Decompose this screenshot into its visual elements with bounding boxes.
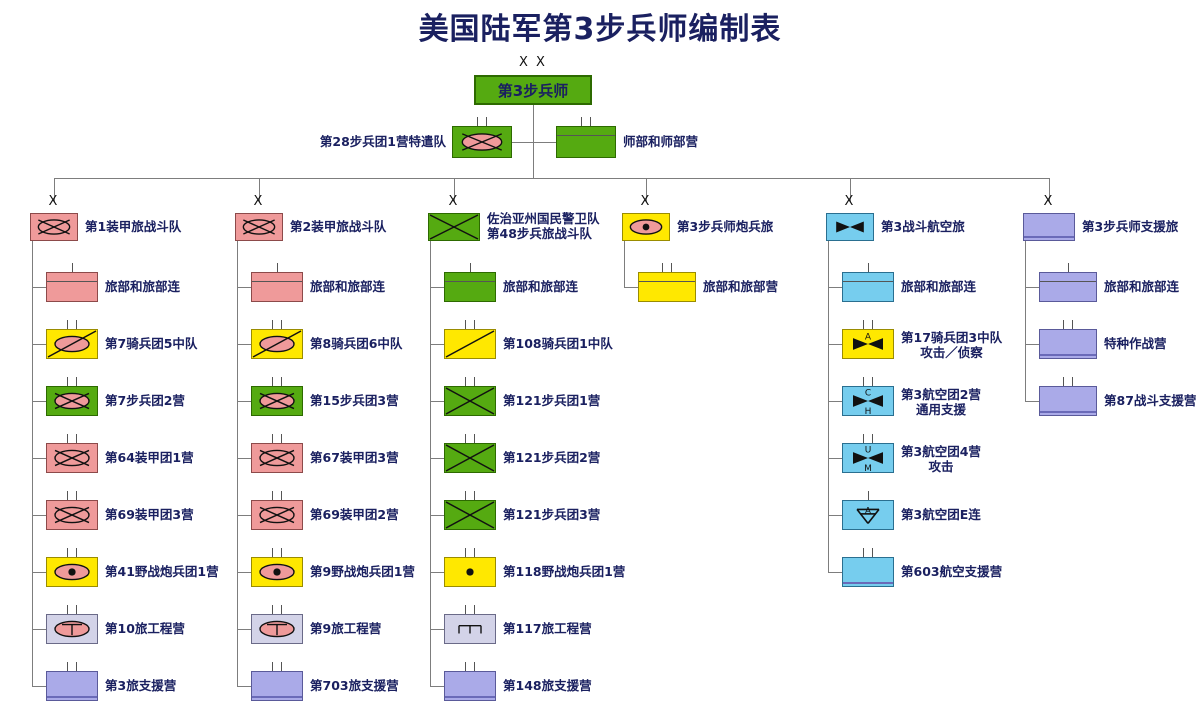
tick-mark bbox=[281, 491, 282, 500]
brigade-label-line1-cab: 第3战斗航空旅 bbox=[881, 220, 965, 234]
tick-mark bbox=[1063, 377, 1064, 386]
unit-symbol-hhbn[interactable] bbox=[556, 126, 616, 158]
unit-label-cab-2: 第3航空团2营通用支援 bbox=[901, 387, 981, 417]
unit-symbol-sustain-1[interactable] bbox=[1039, 329, 1097, 359]
tick-mark bbox=[272, 662, 273, 671]
unit-label-tf-1-28: 第28步兵团1营特遣队 bbox=[0, 135, 446, 149]
unit-label-cab-3: 第3航空团4营攻击 bbox=[901, 444, 981, 474]
unit-label-1abct-3: 第64装甲团1营 bbox=[105, 451, 194, 465]
unit-symbol-cab-5[interactable] bbox=[842, 557, 894, 587]
unit-connector-2abct-4 bbox=[237, 515, 251, 516]
unit-label-line1-2abct-6: 第9旅工程营 bbox=[310, 622, 381, 636]
unit-label-sustain-2: 第87战斗支援营 bbox=[1104, 394, 1196, 408]
echelon-tick-cab-3 bbox=[842, 434, 894, 443]
unit-label-line1-1abct-4: 第69装甲团3营 bbox=[105, 508, 194, 522]
unit-label-2abct-6: 第9旅工程营 bbox=[310, 622, 381, 636]
tick-mark bbox=[272, 434, 273, 443]
tick-mark bbox=[474, 548, 475, 557]
svg-text:A: A bbox=[865, 506, 872, 516]
unit-label-line1-cab-0: 旅部和旅部连 bbox=[901, 280, 976, 294]
unit-symbol-2abct-1[interactable] bbox=[251, 329, 303, 359]
unit-label-line1-1abct-7: 第3旅支援营 bbox=[105, 679, 176, 693]
unit-connector-sustain-2 bbox=[1025, 401, 1039, 402]
brigade-label-cab: 第3战斗航空旅 bbox=[881, 220, 965, 234]
tick-mark bbox=[1063, 320, 1064, 329]
echelon-tick-2abct-6 bbox=[251, 605, 303, 614]
unit-connector-2abct-7 bbox=[237, 686, 251, 687]
tick-mark bbox=[281, 548, 282, 557]
echelon-tick-cab-4 bbox=[842, 491, 894, 500]
brigade-symbol-2abct[interactable] bbox=[235, 213, 283, 241]
brigade-symbol-1abct[interactable] bbox=[30, 213, 78, 241]
echelon-tick-1abct-5 bbox=[46, 548, 98, 557]
unit-label-cab-4: 第3航空团E连 bbox=[901, 508, 981, 522]
unit-connector-1abct-2 bbox=[32, 401, 46, 402]
brigade-spine-2abct bbox=[237, 241, 238, 686]
unit-connector-cab-2 bbox=[828, 401, 842, 402]
tick-mark bbox=[272, 320, 273, 329]
tick-mark bbox=[281, 605, 282, 614]
unit-connector-2abct-3 bbox=[237, 458, 251, 459]
unit-connector-48ibct-3 bbox=[430, 458, 444, 459]
unit-connector-48ibct-5 bbox=[430, 572, 444, 573]
unit-connector-2abct-1 bbox=[237, 344, 251, 345]
brigade-label-line2-48ibct: 第48步兵旅战斗队 bbox=[487, 226, 600, 241]
unit-connector-48ibct-7 bbox=[430, 686, 444, 687]
unit-label-2abct-5: 第9野战炮兵团1营 bbox=[310, 565, 415, 579]
brigade-symbol-48ibct[interactable] bbox=[428, 213, 480, 241]
unit-label-line1-48ibct-2: 第121步兵团1营 bbox=[503, 394, 600, 408]
echelon-tick-cab-1 bbox=[842, 320, 894, 329]
tick-mark bbox=[76, 662, 77, 671]
echelon-tick-2abct-5 bbox=[251, 548, 303, 557]
unit-connector-48ibct-1 bbox=[430, 344, 444, 345]
unit-symbol-48ibct-0[interactable] bbox=[444, 272, 496, 302]
tick-mark bbox=[863, 548, 864, 557]
brigade-echelon-divarty: X bbox=[622, 195, 670, 208]
unit-connector-48ibct-4 bbox=[430, 515, 444, 516]
unit-label-48ibct-7: 第148旅支援营 bbox=[503, 679, 592, 693]
unit-connector-48ibct-6 bbox=[430, 629, 444, 630]
unit-label-1abct-2: 第7步兵团2营 bbox=[105, 394, 185, 408]
unit-label-sustain-1: 特种作战营 bbox=[1104, 337, 1167, 351]
brigade-label-line1-sustain: 第3步兵师支援旅 bbox=[1082, 220, 1178, 234]
unit-symbol-cab-0[interactable] bbox=[842, 272, 894, 302]
brigade-label-1abct: 第1装甲旅战斗队 bbox=[85, 220, 181, 234]
brigade-label-line1-48ibct: 佐治亚州国民警卫队 bbox=[487, 211, 600, 226]
unit-connector-1abct-3 bbox=[32, 458, 46, 459]
tick-mark bbox=[590, 117, 591, 126]
unit-label-2abct-1: 第8骑兵团6中队 bbox=[310, 337, 402, 351]
unit-label-line1-1abct-0: 旅部和旅部连 bbox=[105, 280, 180, 294]
echelon-tick-1abct-2 bbox=[46, 377, 98, 386]
tick-mark bbox=[470, 263, 471, 272]
unit-connector-2abct-6 bbox=[237, 629, 251, 630]
brigade-echelon-sustain: X bbox=[1023, 195, 1075, 208]
unit-connector-1abct-1 bbox=[32, 344, 46, 345]
brigade-spine-48ibct bbox=[430, 241, 431, 686]
unit-symbol-2abct-7[interactable] bbox=[251, 671, 303, 701]
unit-connector-2abct-5 bbox=[237, 572, 251, 573]
brigade-label-line1-1abct: 第1装甲旅战斗队 bbox=[85, 220, 181, 234]
unit-label-line1-48ibct-1: 第108骑兵团1中队 bbox=[503, 337, 613, 351]
echelon-tick-48ibct-2 bbox=[444, 377, 496, 386]
tick-mark bbox=[868, 263, 869, 272]
unit-label-1abct-5: 第41野战炮兵团1营 bbox=[105, 565, 219, 579]
unit-symbol-divarty-0[interactable] bbox=[638, 272, 696, 302]
tick-mark bbox=[272, 605, 273, 614]
unit-label-line1-2abct-3: 第67装甲团3营 bbox=[310, 451, 399, 465]
echelon-tick-cab-0 bbox=[842, 263, 894, 272]
unit-connector-cab-1 bbox=[828, 344, 842, 345]
unit-label-line1-1abct-1: 第7骑兵团5中队 bbox=[105, 337, 197, 351]
brigade-symbol-cab[interactable] bbox=[826, 213, 874, 241]
unit-symbol-48ibct-2[interactable] bbox=[444, 386, 496, 416]
tick-mark bbox=[281, 377, 282, 386]
tick-mark bbox=[272, 491, 273, 500]
echelon-tick-48ibct-5 bbox=[444, 548, 496, 557]
unit-symbol-1abct-4[interactable] bbox=[46, 500, 98, 530]
org-chart-canvas: 美国陆军第3步兵师编制表 X X第3步兵师第28步兵团1营特遣队师部和师部营X第… bbox=[0, 0, 1200, 713]
unit-connector-divarty-0 bbox=[624, 287, 638, 288]
tick-mark bbox=[272, 377, 273, 386]
echelon-tick-1abct-7 bbox=[46, 662, 98, 671]
unit-label-line1-sustain-0: 旅部和旅部连 bbox=[1104, 280, 1179, 294]
echelon-tick-2abct-2 bbox=[251, 377, 303, 386]
unit-label-2abct-0: 旅部和旅部连 bbox=[310, 280, 385, 294]
echelon-tick-1abct-3 bbox=[46, 434, 98, 443]
tick-mark bbox=[67, 548, 68, 557]
unit-label-line1-2abct-7: 第703旅支援营 bbox=[310, 679, 399, 693]
unit-label-hhbn: 师部和师部营 bbox=[623, 135, 698, 149]
tick-mark bbox=[67, 320, 68, 329]
tick-mark bbox=[277, 263, 278, 272]
brigade-symbol-sustain[interactable] bbox=[1023, 213, 1075, 241]
unit-connector-48ibct-0 bbox=[430, 287, 444, 288]
brigade-label-divarty: 第3步兵师炮兵旅 bbox=[677, 220, 773, 234]
unit-symbol-48ibct-3[interactable] bbox=[444, 443, 496, 473]
echelon-tick-48ibct-7 bbox=[444, 662, 496, 671]
brigade-label-2abct: 第2装甲旅战斗队 bbox=[290, 220, 386, 234]
tick-mark bbox=[76, 548, 77, 557]
unit-label-line1-divarty-0: 旅部和旅部营 bbox=[703, 280, 778, 294]
unit-symbol-cab-1[interactable]: A bbox=[842, 329, 894, 359]
division-echelon: X X bbox=[474, 56, 592, 69]
tick-mark bbox=[67, 434, 68, 443]
unit-symbol-tf-1-28[interactable] bbox=[452, 126, 512, 158]
unit-symbol-48ibct-5[interactable] bbox=[444, 557, 496, 587]
unit-label-line1-2abct-0: 旅部和旅部连 bbox=[310, 280, 385, 294]
echelon-tick-hhbn bbox=[556, 117, 616, 126]
unit-label-line1-48ibct-4: 第121步兵团3营 bbox=[503, 508, 600, 522]
unit-label-line1-2abct-1: 第8骑兵团6中队 bbox=[310, 337, 402, 351]
unit-label-line1-cab-5: 第603航空支援营 bbox=[901, 565, 1002, 579]
unit-symbol-cab-4[interactable]: A bbox=[842, 500, 894, 530]
tick-mark bbox=[872, 548, 873, 557]
tick-mark bbox=[465, 662, 466, 671]
brigade-bus bbox=[54, 178, 1049, 179]
unit-label-2abct-3: 第67装甲团3营 bbox=[310, 451, 399, 465]
unit-connector-48ibct-2 bbox=[430, 401, 444, 402]
brigade-spine-sustain bbox=[1025, 241, 1026, 401]
unit-label-line1-2abct-4: 第69装甲团2营 bbox=[310, 508, 399, 522]
tick-mark bbox=[474, 377, 475, 386]
tick-mark bbox=[1068, 263, 1069, 272]
unit-label-line1-48ibct-0: 旅部和旅部连 bbox=[503, 280, 578, 294]
tick-mark bbox=[863, 377, 864, 386]
echelon-tick-2abct-0 bbox=[251, 263, 303, 272]
unit-symbol-1abct-7[interactable] bbox=[46, 671, 98, 701]
unit-label-line2-cab-3: 攻击 bbox=[901, 459, 981, 474]
tick-mark bbox=[281, 434, 282, 443]
unit-symbol-sustain-0[interactable] bbox=[1039, 272, 1097, 302]
unit-label-1abct-7: 第3旅支援营 bbox=[105, 679, 176, 693]
unit-symbol-2abct-5[interactable] bbox=[251, 557, 303, 587]
svg-text:M: M bbox=[864, 464, 872, 472]
tick-mark bbox=[474, 491, 475, 500]
echelon-tick-48ibct-6 bbox=[444, 605, 496, 614]
unit-symbol-2abct-3[interactable] bbox=[251, 443, 303, 473]
echelon-tick-divarty-0 bbox=[638, 263, 696, 272]
unit-connector-2abct-0 bbox=[237, 287, 251, 288]
svg-text:A: A bbox=[865, 333, 872, 343]
tick-mark bbox=[281, 320, 282, 329]
tick-mark bbox=[1072, 377, 1073, 386]
tick-mark bbox=[872, 434, 873, 443]
unit-connector-cab-3 bbox=[828, 458, 842, 459]
unit-symbol-2abct-2[interactable] bbox=[251, 386, 303, 416]
unit-label-line1-1abct-6: 第10旅工程营 bbox=[105, 622, 185, 636]
unit-label-line2-cab-1: 攻击／侦察 bbox=[901, 345, 1002, 360]
unit-label-1abct-1: 第7骑兵团5中队 bbox=[105, 337, 197, 351]
echelon-tick-2abct-1 bbox=[251, 320, 303, 329]
unit-label-sustain-0: 旅部和旅部连 bbox=[1104, 280, 1179, 294]
tick-mark bbox=[465, 605, 466, 614]
brigade-spine-1abct bbox=[32, 241, 33, 686]
unit-label-line1-2abct-5: 第9野战炮兵团1营 bbox=[310, 565, 415, 579]
tick-mark bbox=[76, 320, 77, 329]
tick-mark bbox=[474, 320, 475, 329]
tick-mark bbox=[863, 434, 864, 443]
unit-label-cab-1: 第17骑兵团3中队攻击／侦察 bbox=[901, 330, 1002, 360]
brigade-echelon-1abct: X bbox=[30, 195, 78, 208]
unit-label-line1-cab-2: 第3航空团2营 bbox=[901, 387, 981, 402]
svg-text:C: C bbox=[865, 388, 871, 398]
division-box[interactable]: 第3步兵师 bbox=[474, 75, 592, 105]
unit-label-1abct-0: 旅部和旅部连 bbox=[105, 280, 180, 294]
brigade-label-48ibct: 佐治亚州国民警卫队第48步兵旅战斗队 bbox=[487, 211, 600, 241]
tick-mark bbox=[662, 263, 663, 272]
echelon-tick-sustain-1 bbox=[1039, 320, 1097, 329]
unit-label-48ibct-5: 第118野战炮兵团1营 bbox=[503, 565, 625, 579]
unit-label-line1-sustain-1: 特种作战营 bbox=[1104, 337, 1167, 351]
unit-symbol-48ibct-7[interactable] bbox=[444, 671, 496, 701]
unit-label-cab-5: 第603航空支援营 bbox=[901, 565, 1002, 579]
unit-symbol-1abct-6[interactable] bbox=[46, 614, 98, 644]
unit-label-48ibct-6: 第117旅工程营 bbox=[503, 622, 592, 636]
unit-symbol-1abct-0[interactable] bbox=[46, 272, 98, 302]
unit-connector-1abct-5 bbox=[32, 572, 46, 573]
unit-symbol-48ibct-6[interactable] bbox=[444, 614, 496, 644]
tick-mark bbox=[486, 117, 487, 126]
unit-connector-1abct-6 bbox=[32, 629, 46, 630]
tick-mark bbox=[868, 491, 869, 500]
tick-mark bbox=[474, 434, 475, 443]
unit-symbol-48ibct-4[interactable] bbox=[444, 500, 496, 530]
unit-connector-1abct-0 bbox=[32, 287, 46, 288]
echelon-tick-1abct-0 bbox=[46, 263, 98, 272]
unit-symbol-1abct-5[interactable] bbox=[46, 557, 98, 587]
unit-connector-2abct-2 bbox=[237, 401, 251, 402]
echelon-tick-48ibct-4 bbox=[444, 491, 496, 500]
unit-label-48ibct-3: 第121步兵团2营 bbox=[503, 451, 600, 465]
unit-connector-1abct-7 bbox=[32, 686, 46, 687]
svg-text:U: U bbox=[865, 445, 872, 455]
unit-label-line1-48ibct-5: 第118野战炮兵团1营 bbox=[503, 565, 625, 579]
echelon-tick-2abct-3 bbox=[251, 434, 303, 443]
unit-symbol-2abct-6[interactable] bbox=[251, 614, 303, 644]
svg-text:H: H bbox=[865, 407, 872, 415]
echelon-tick-48ibct-0 bbox=[444, 263, 496, 272]
echelon-tick-1abct-4 bbox=[46, 491, 98, 500]
brigade-spine-cab bbox=[828, 241, 829, 572]
page-title: 美国陆军第3步兵师编制表 bbox=[0, 4, 1200, 48]
unit-connector-sustain-1 bbox=[1025, 344, 1039, 345]
unit-label-2abct-4: 第69装甲团2营 bbox=[310, 508, 399, 522]
brigade-echelon-cab: X bbox=[826, 195, 874, 208]
tick-mark bbox=[465, 320, 466, 329]
tick-mark bbox=[872, 377, 873, 386]
unit-label-line2-cab-2: 通用支援 bbox=[901, 402, 981, 417]
tick-mark bbox=[72, 263, 73, 272]
tick-mark bbox=[474, 662, 475, 671]
unit-label-1abct-6: 第10旅工程营 bbox=[105, 622, 185, 636]
unit-label-48ibct-1: 第108骑兵团1中队 bbox=[503, 337, 613, 351]
unit-label-line1-1abct-2: 第7步兵团2营 bbox=[105, 394, 185, 408]
unit-label-line1-cab-4: 第3航空团E连 bbox=[901, 508, 981, 522]
unit-connector-cab-0 bbox=[828, 287, 842, 288]
echelon-tick-sustain-2 bbox=[1039, 377, 1097, 386]
tick-mark bbox=[872, 320, 873, 329]
unit-label-2abct-2: 第15步兵团3营 bbox=[310, 394, 399, 408]
unit-label-line1-1abct-5: 第41野战炮兵团1营 bbox=[105, 565, 219, 579]
unit-label-line1-sustain-2: 第87战斗支援营 bbox=[1104, 394, 1196, 408]
unit-symbol-1abct-1[interactable] bbox=[46, 329, 98, 359]
brigade-spine-divarty bbox=[624, 241, 625, 287]
echelon-tick-2abct-7 bbox=[251, 662, 303, 671]
tick-mark bbox=[76, 605, 77, 614]
tick-mark bbox=[1072, 320, 1073, 329]
tick-mark bbox=[272, 548, 273, 557]
connector-tf-1-28 bbox=[512, 142, 533, 143]
unit-label-divarty-0: 旅部和旅部营 bbox=[703, 280, 778, 294]
unit-label-line1-48ibct-7: 第148旅支援营 bbox=[503, 679, 592, 693]
echelon-tick-48ibct-3 bbox=[444, 434, 496, 443]
echelon-tick-2abct-4 bbox=[251, 491, 303, 500]
echelon-tick-cab-2 bbox=[842, 377, 894, 386]
unit-connector-sustain-0 bbox=[1025, 287, 1039, 288]
unit-label-line1-cab-3: 第3航空团4营 bbox=[901, 444, 981, 459]
unit-connector-1abct-4 bbox=[32, 515, 46, 516]
unit-symbol-cab-3[interactable]: UM bbox=[842, 443, 894, 473]
tick-mark bbox=[67, 605, 68, 614]
echelon-tick-tf-1-28 bbox=[452, 117, 512, 126]
unit-symbol-2abct-4[interactable] bbox=[251, 500, 303, 530]
unit-label-line1-48ibct-3: 第121步兵团2营 bbox=[503, 451, 600, 465]
connector-hhbn bbox=[533, 142, 556, 143]
unit-label-48ibct-4: 第121步兵团3营 bbox=[503, 508, 600, 522]
tick-mark bbox=[863, 320, 864, 329]
brigade-label-line1-2abct: 第2装甲旅战斗队 bbox=[290, 220, 386, 234]
unit-connector-cab-5 bbox=[828, 572, 842, 573]
unit-symbol-2abct-0[interactable] bbox=[251, 272, 303, 302]
echelon-tick-1abct-1 bbox=[46, 320, 98, 329]
tick-mark bbox=[281, 662, 282, 671]
echelon-tick-1abct-6 bbox=[46, 605, 98, 614]
tick-mark bbox=[581, 117, 582, 126]
division-name: 第3步兵师 bbox=[498, 80, 568, 101]
unit-label-1abct-4: 第69装甲团3营 bbox=[105, 508, 194, 522]
echelon-tick-sustain-0 bbox=[1039, 263, 1097, 272]
unit-label-48ibct-0: 旅部和旅部连 bbox=[503, 280, 578, 294]
unit-label-2abct-7: 第703旅支援营 bbox=[310, 679, 399, 693]
brigade-label-line1-divarty: 第3步兵师炮兵旅 bbox=[677, 220, 773, 234]
tick-mark bbox=[671, 263, 672, 272]
tick-mark bbox=[67, 662, 68, 671]
unit-label-line1-2abct-2: 第15步兵团3营 bbox=[310, 394, 399, 408]
tick-mark bbox=[477, 117, 478, 126]
unit-label-cab-0: 旅部和旅部连 bbox=[901, 280, 976, 294]
brigade-echelon-48ibct: X bbox=[428, 195, 480, 208]
brigade-echelon-2abct: X bbox=[235, 195, 283, 208]
tick-mark bbox=[76, 491, 77, 500]
tick-mark bbox=[465, 548, 466, 557]
echelon-tick-cab-5 bbox=[842, 548, 894, 557]
unit-label-line1-1abct-3: 第64装甲团1营 bbox=[105, 451, 194, 465]
echelon-tick-48ibct-1 bbox=[444, 320, 496, 329]
unit-symbol-1abct-3[interactable] bbox=[46, 443, 98, 473]
tick-mark bbox=[76, 434, 77, 443]
tick-mark bbox=[465, 434, 466, 443]
brigade-symbol-divarty[interactable] bbox=[622, 213, 670, 241]
unit-symbol-1abct-2[interactable] bbox=[46, 386, 98, 416]
tick-mark bbox=[465, 491, 466, 500]
unit-symbol-cab-2[interactable]: CH bbox=[842, 386, 894, 416]
unit-connector-cab-4 bbox=[828, 515, 842, 516]
tick-mark bbox=[76, 377, 77, 386]
unit-label-line1-cab-1: 第17骑兵团3中队 bbox=[901, 330, 1002, 345]
tick-mark bbox=[67, 377, 68, 386]
unit-symbol-sustain-2[interactable] bbox=[1039, 386, 1097, 416]
brigade-label-sustain: 第3步兵师支援旅 bbox=[1082, 220, 1178, 234]
unit-label-48ibct-2: 第121步兵团1营 bbox=[503, 394, 600, 408]
unit-symbol-48ibct-1[interactable] bbox=[444, 329, 496, 359]
tick-mark bbox=[465, 377, 466, 386]
tick-mark bbox=[67, 491, 68, 500]
unit-label-line1-48ibct-6: 第117旅工程营 bbox=[503, 622, 592, 636]
tick-mark bbox=[474, 605, 475, 614]
